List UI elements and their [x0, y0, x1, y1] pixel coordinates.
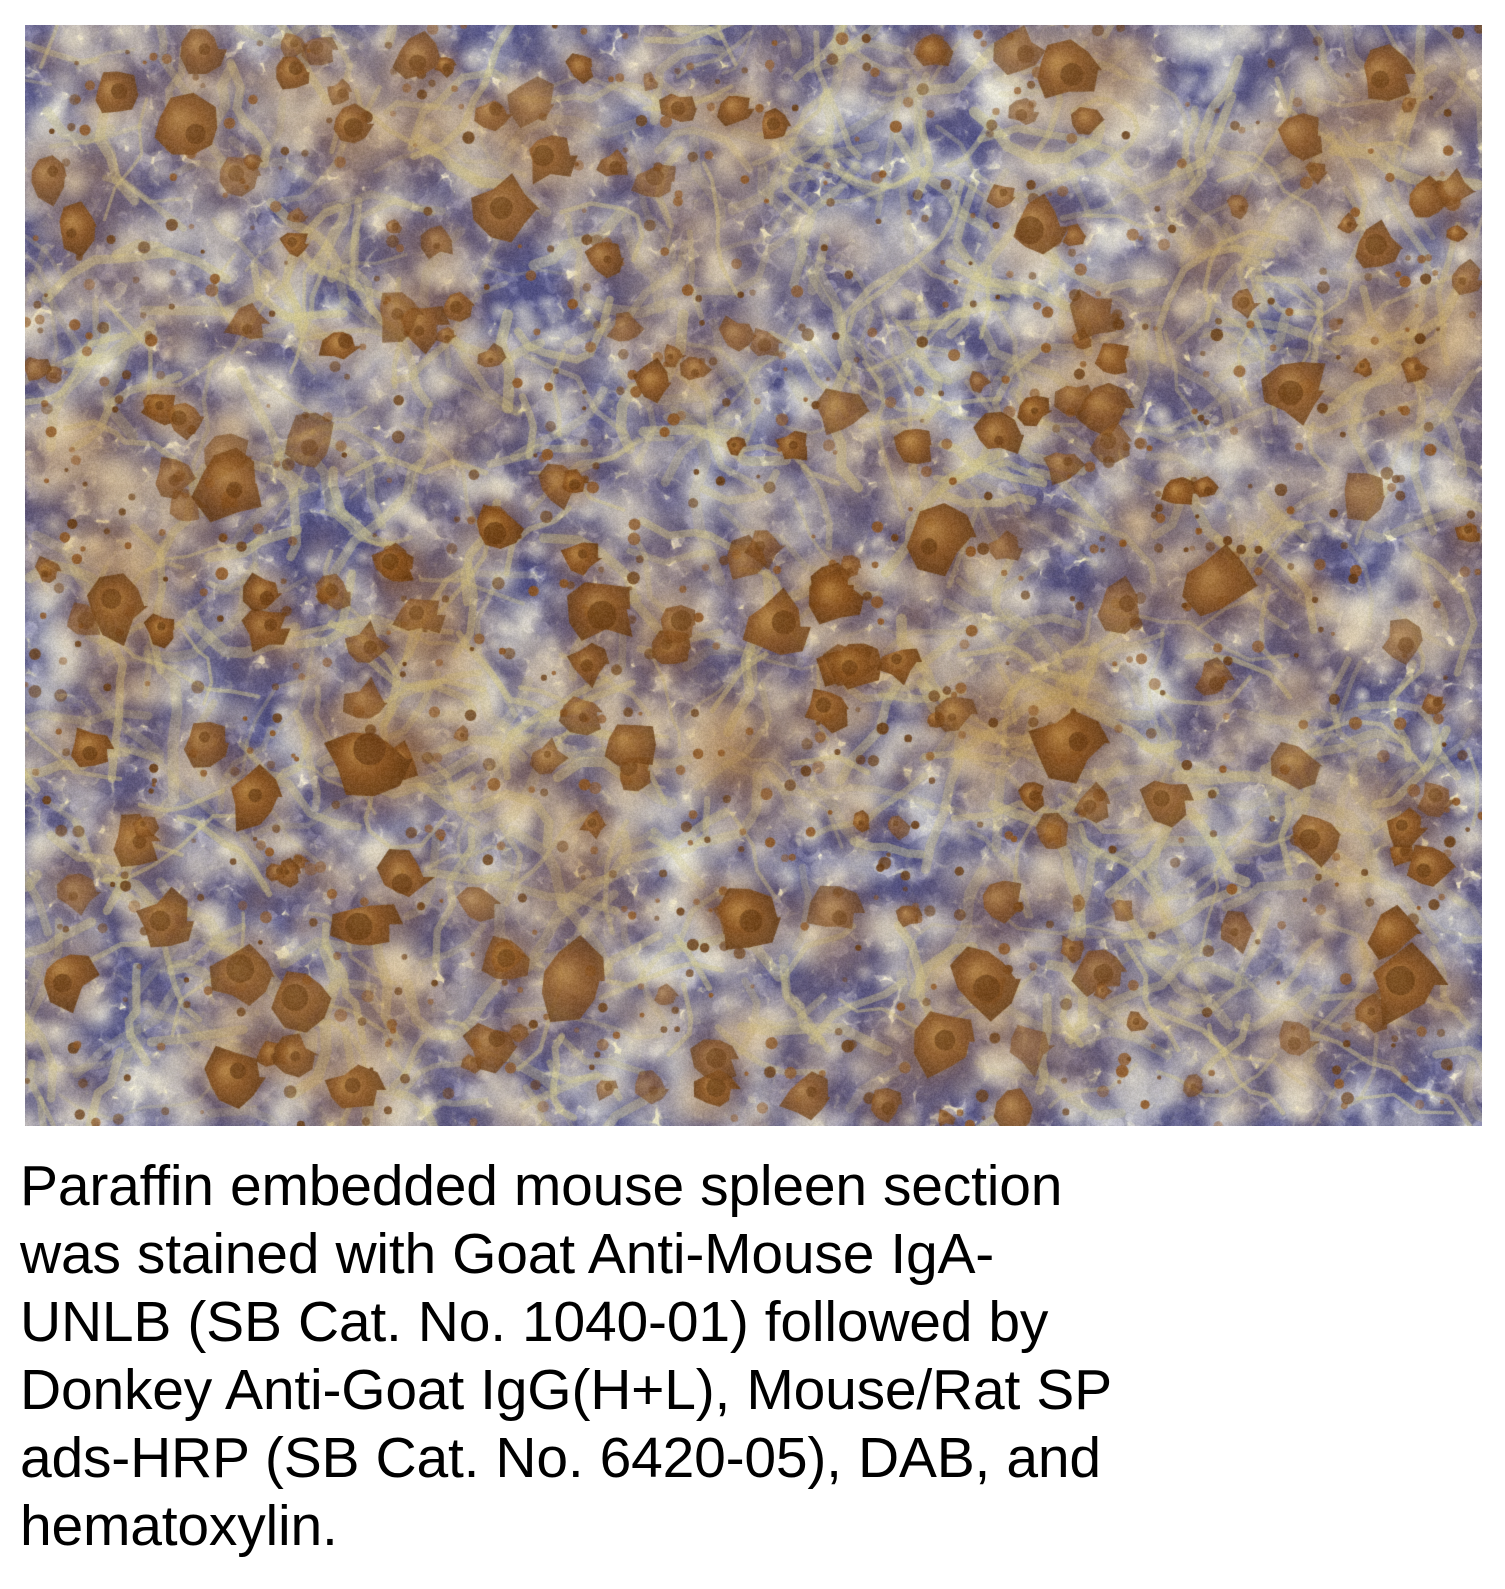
- ihc-figure-panel: Paraffin embedded mouse spleen section w…: [0, 0, 1505, 1589]
- caption-line: was stained with Goat Anti-Mouse IgA-: [20, 1220, 1260, 1288]
- caption-line: ads-HRP (SB Cat. No. 6420-05), DAB, and: [20, 1424, 1260, 1492]
- micrograph-image: [25, 25, 1482, 1126]
- caption-line: Donkey Anti-Goat IgG(H+L), Mouse/Rat SP: [20, 1356, 1260, 1424]
- caption-line: Paraffin embedded mouse spleen section: [20, 1152, 1260, 1220]
- caption-line: UNLB (SB Cat. No. 1040-01) followed by: [20, 1288, 1260, 1356]
- micrograph-canvas: [25, 25, 1482, 1126]
- figure-caption: Paraffin embedded mouse spleen section w…: [20, 1152, 1260, 1560]
- caption-line: hematoxylin.: [20, 1492, 1260, 1560]
